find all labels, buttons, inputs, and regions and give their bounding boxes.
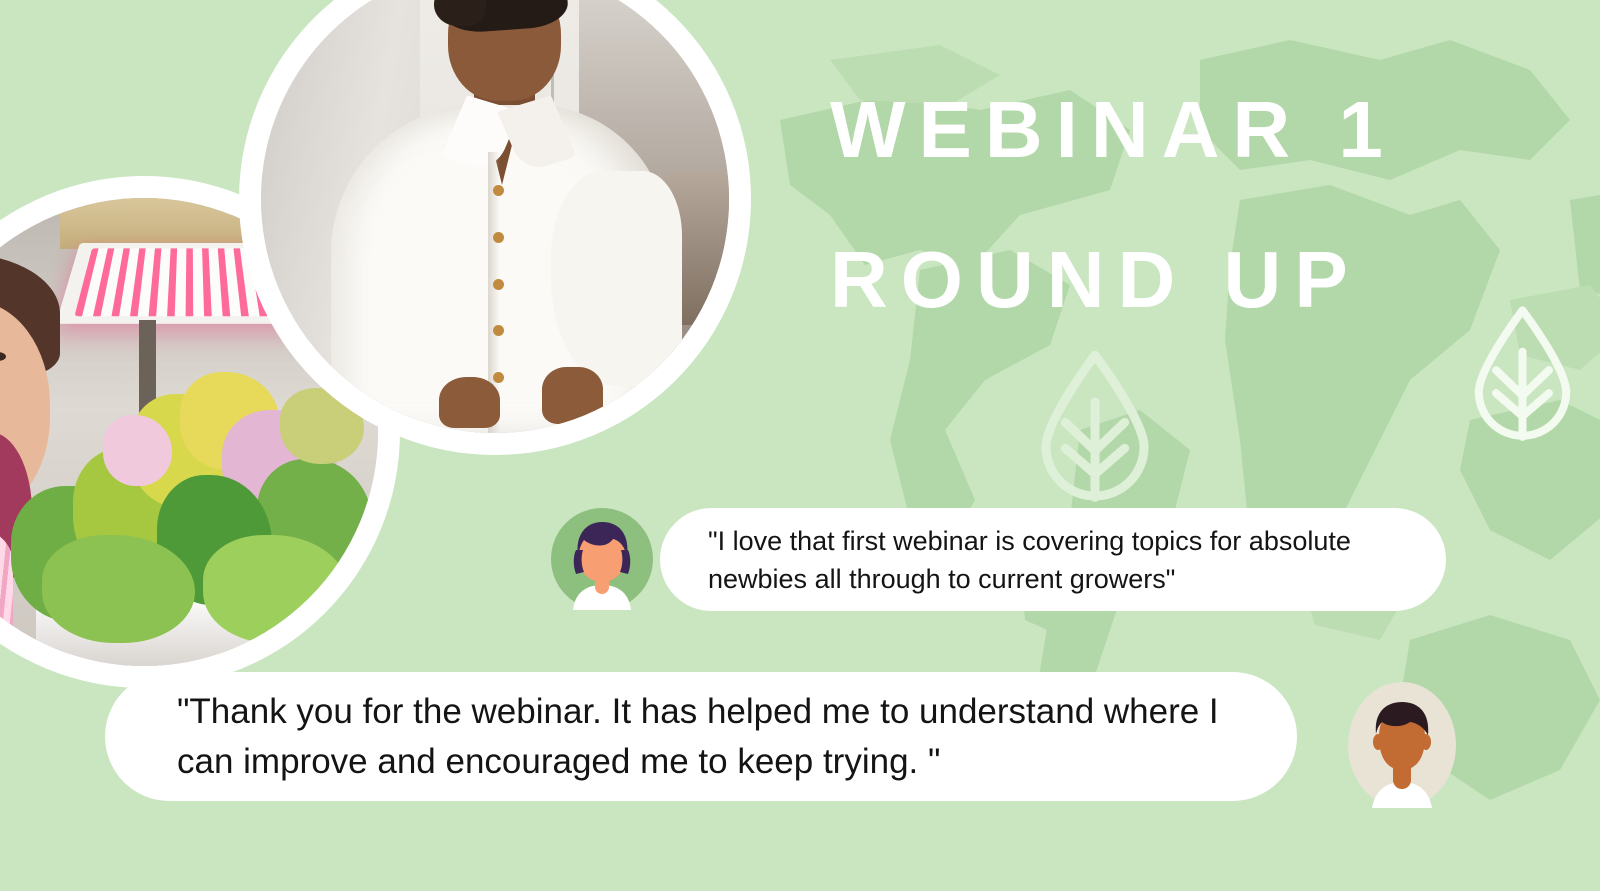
man-in-white-shirt-photo [239, 0, 751, 455]
testimonial-bubble: "I love that first webinar is covering t… [660, 508, 1446, 611]
man-photo-inner [261, 0, 729, 433]
testimonial-bubble: "Thank you for the webinar. It has helpe… [105, 672, 1297, 801]
testimonial-text: "Thank you for the webinar. It has helpe… [105, 687, 1297, 787]
leaf-icon [1030, 345, 1160, 505]
testimonial-text: "I love that first webinar is covering t… [660, 522, 1446, 598]
man-photo-scene [261, 0, 729, 433]
avatar [1348, 682, 1456, 808]
headline-line-2: ROUND UP [830, 205, 1530, 355]
page-title: WEBINAR 1 ROUND UP [830, 55, 1530, 355]
headline-line-1: WEBINAR 1 [830, 55, 1530, 205]
webinar-roundup-banner: WEBINAR 1 ROUND UP [0, 0, 1600, 891]
avatar [551, 508, 653, 610]
